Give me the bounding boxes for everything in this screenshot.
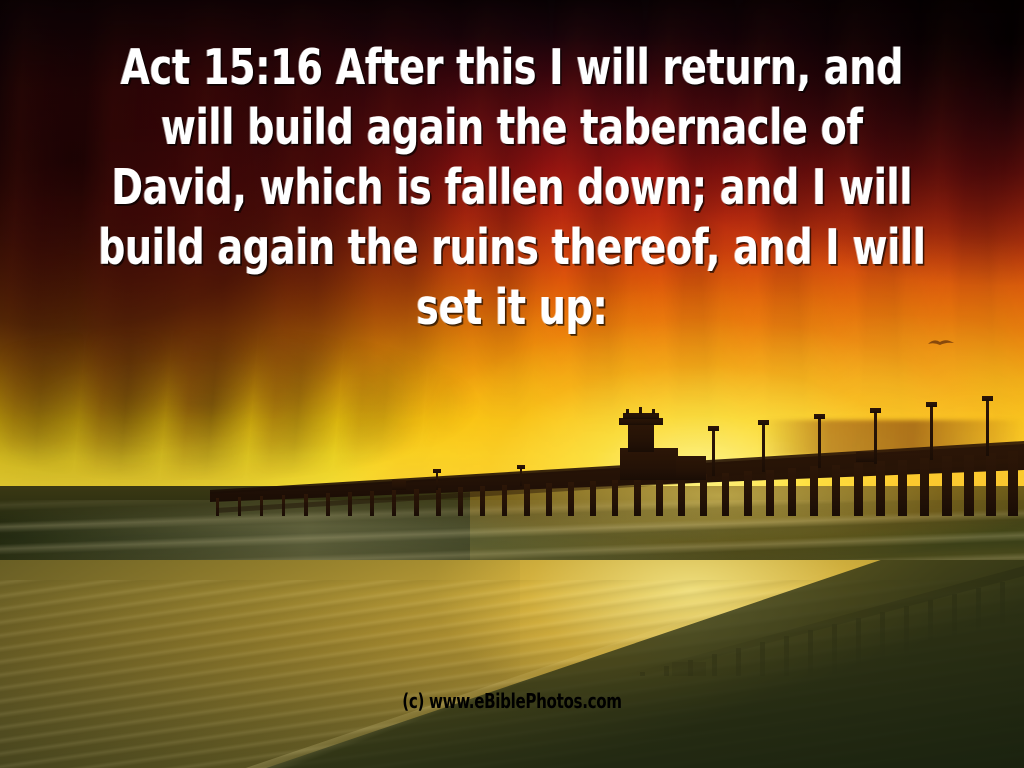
verse-text: Act 15:16 After this I will return, and … (72, 38, 953, 338)
watermark-credit: (c) www.eBiblePhotos.com (82, 689, 942, 713)
verse-image-canvas: Act 15:16 After this I will return, and … (0, 0, 1024, 768)
pier-tower (619, 407, 706, 480)
